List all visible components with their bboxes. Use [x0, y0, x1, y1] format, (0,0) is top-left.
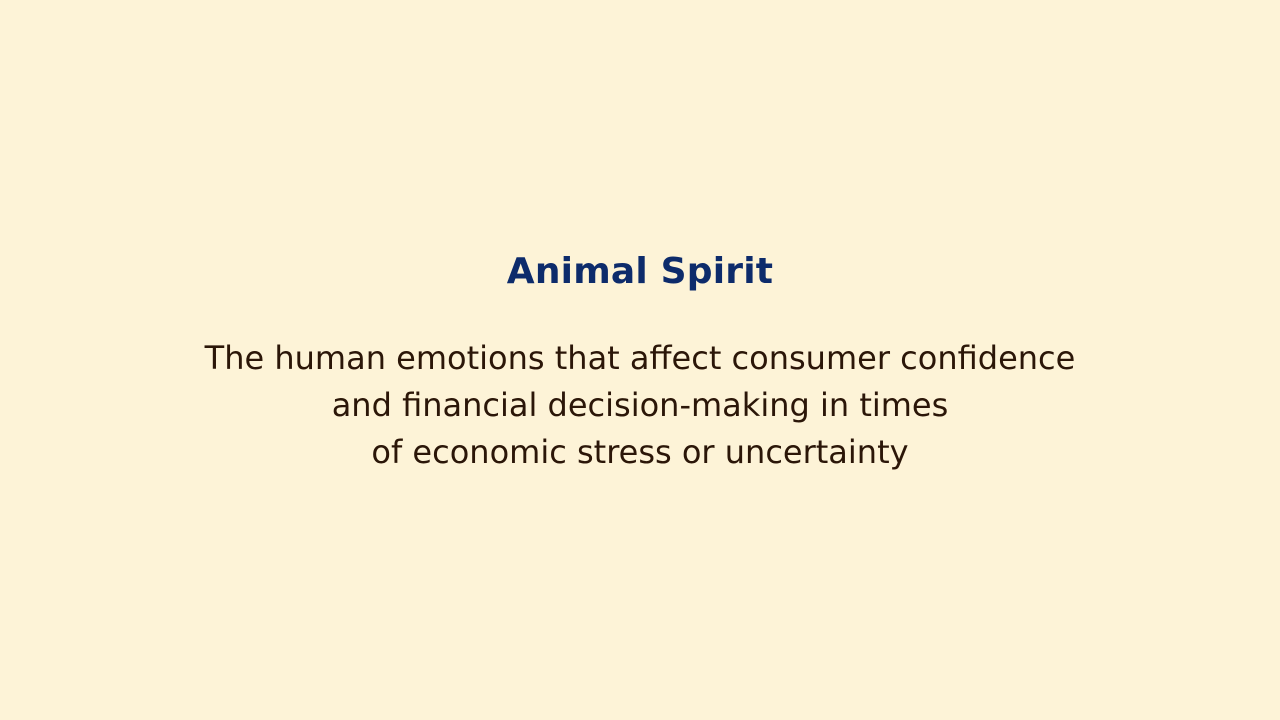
definition-line-2: and financial decision-making in times: [205, 382, 1076, 429]
definition-line-1: The human emotions that affect consumer …: [205, 335, 1076, 382]
term-title: Animal Spirit: [507, 254, 773, 290]
definition-text: The human emotions that affect consumer …: [205, 335, 1076, 476]
term-definition-block: Animal Spirit The human emotions that af…: [80, 254, 1200, 476]
definition-line-3: of economic stress or uncertainty: [205, 429, 1076, 476]
definition-slide: Animal Spirit The human emotions that af…: [0, 0, 1280, 720]
